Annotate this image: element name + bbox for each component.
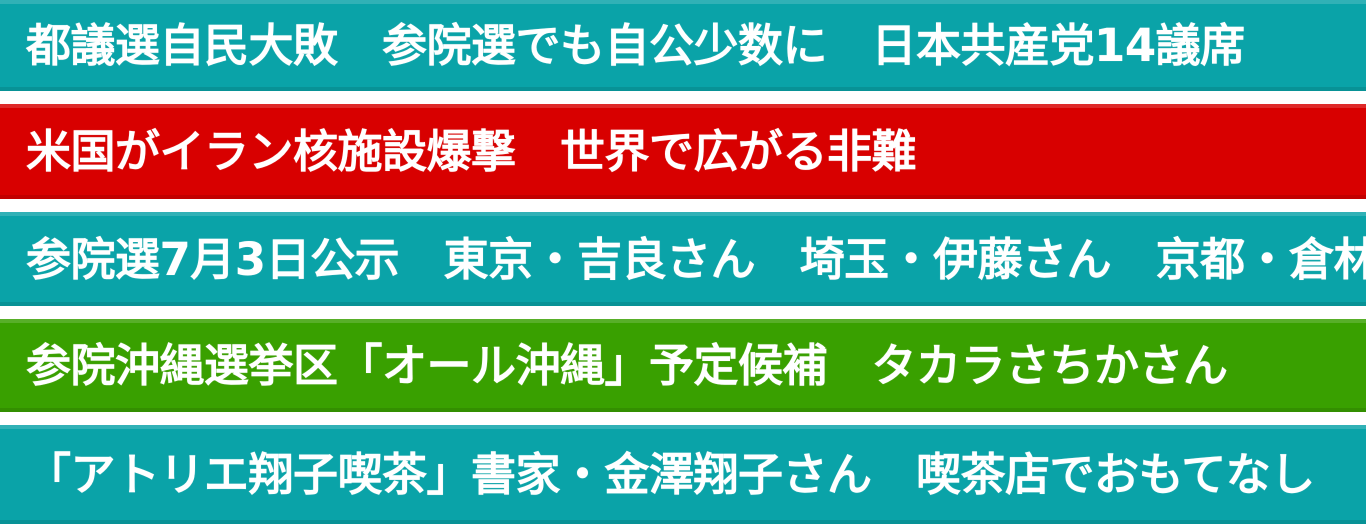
banner-election-results[interactable]: 都議選自民大敗 参院選でも自公少数に 日本共産党14議席	[0, 0, 1366, 91]
banner-upper-house-candidates[interactable]: 参院選7月3日公示 東京・吉良さん 埼玉・伊藤さん 京都・倉林さん	[0, 212, 1366, 305]
banner-headline: 米国がイラン核施設爆撃 世界で広がる非難	[26, 129, 916, 174]
banner-stack: 都議選自民大敗 参院選でも自公少数に 日本共産党14議席 米国がイラン核施設爆撃…	[0, 0, 1366, 524]
banner-iran-strike[interactable]: 米国がイラン核施設爆撃 世界で広がる非難	[0, 104, 1366, 199]
banner-headline: 参院沖縄選挙区「オール沖縄」予定候補 タカラさちかさん	[26, 343, 1228, 388]
banner-atelier-shoko-cafe[interactable]: 「アトリエ翔子喫茶」書家・金澤翔子さん 喫茶店でおもてなし	[0, 425, 1366, 524]
banner-okinawa-candidate[interactable]: 参院沖縄選挙区「オール沖縄」予定候補 タカラさちかさん	[0, 319, 1366, 412]
banner-headline: 都議選自民大敗 参院選でも自公少数に 日本共産党14議席	[26, 23, 1245, 68]
banner-headline: 参院選7月3日公示 東京・吉良さん 埼玉・伊藤さん 京都・倉林さん	[26, 237, 1366, 282]
banner-headline: 「アトリエ翔子喫茶」書家・金澤翔子さん 喫茶店でおもてなし	[26, 452, 1315, 497]
